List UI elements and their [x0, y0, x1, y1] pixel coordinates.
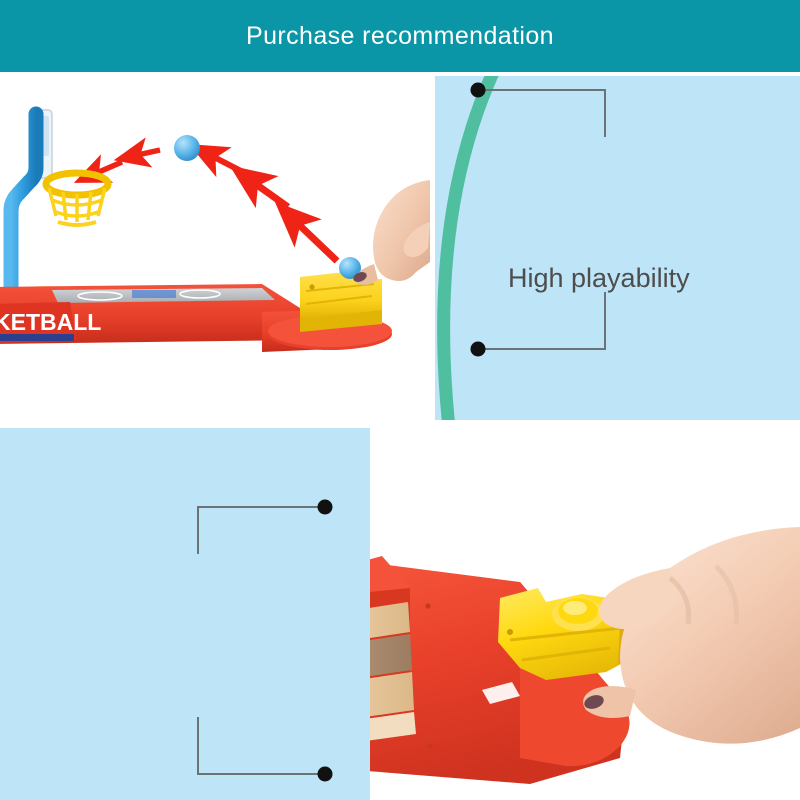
high-playability-panel: High playability [435, 76, 800, 420]
launcher-closeup-illustration [370, 428, 800, 800]
playability-decoration [435, 76, 800, 420]
basketball-shooting-demo-photo: KETBALL [0, 72, 430, 420]
page-title: Purchase recommendation [246, 22, 554, 51]
basketball-demo-illustration: KETBALL [0, 72, 430, 420]
lower-bracket-line [478, 292, 605, 349]
green-arc-decoration [444, 76, 495, 420]
high-playability-label: High playability [508, 263, 690, 294]
upper-bracket-dot [471, 83, 486, 98]
simple-operation-panel: Simple operation [0, 428, 370, 800]
product-detail-page: Purchase recommendation [0, 0, 800, 800]
lower-bracket-dot [318, 767, 333, 782]
lower-bracket-line [198, 717, 325, 774]
upper-bracket-line [198, 507, 325, 554]
upper-bracket-dot [318, 500, 333, 515]
basketball-hoop-assembly [0, 110, 108, 308]
lower-bracket-dot [471, 342, 486, 357]
upper-bracket-line [478, 90, 605, 137]
flying-ball [174, 135, 200, 161]
header-banner: Purchase recommendation [0, 0, 800, 72]
product-label-text: KETBALL [0, 309, 101, 335]
operation-decoration [0, 428, 370, 800]
hand-pressing-launcher [352, 180, 430, 285]
launcher-close-up-photo [370, 428, 800, 800]
ball-trajectory-arrows [92, 150, 337, 261]
